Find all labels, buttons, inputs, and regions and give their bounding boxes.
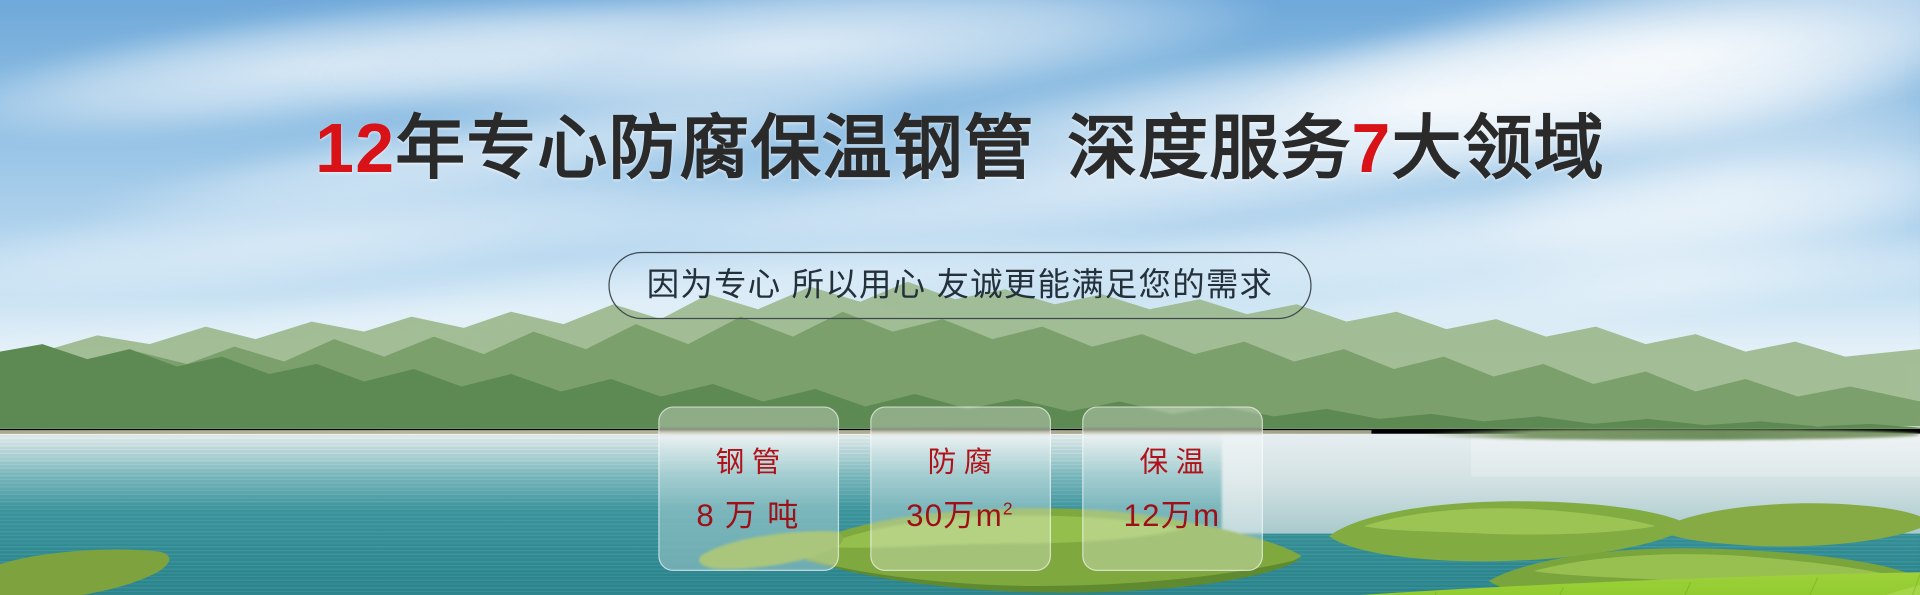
promo-banner: 12年专心防腐保温钢管深度服务7大领域 因为专心 所以用心 友诚更能满足您的需求… [0, 0, 1920, 595]
far-bright-water [1471, 434, 1920, 476]
scenic-background: 12年专心防腐保温钢管深度服务7大领域 因为专心 所以用心 友诚更能满足您的需求… [0, 0, 1920, 595]
mountain-range-near [0, 294, 1920, 429]
far-shore-strip [1421, 429, 1920, 440]
foreground-grass [0, 555, 1920, 595]
grass-island-right-c [1658, 494, 1920, 559]
